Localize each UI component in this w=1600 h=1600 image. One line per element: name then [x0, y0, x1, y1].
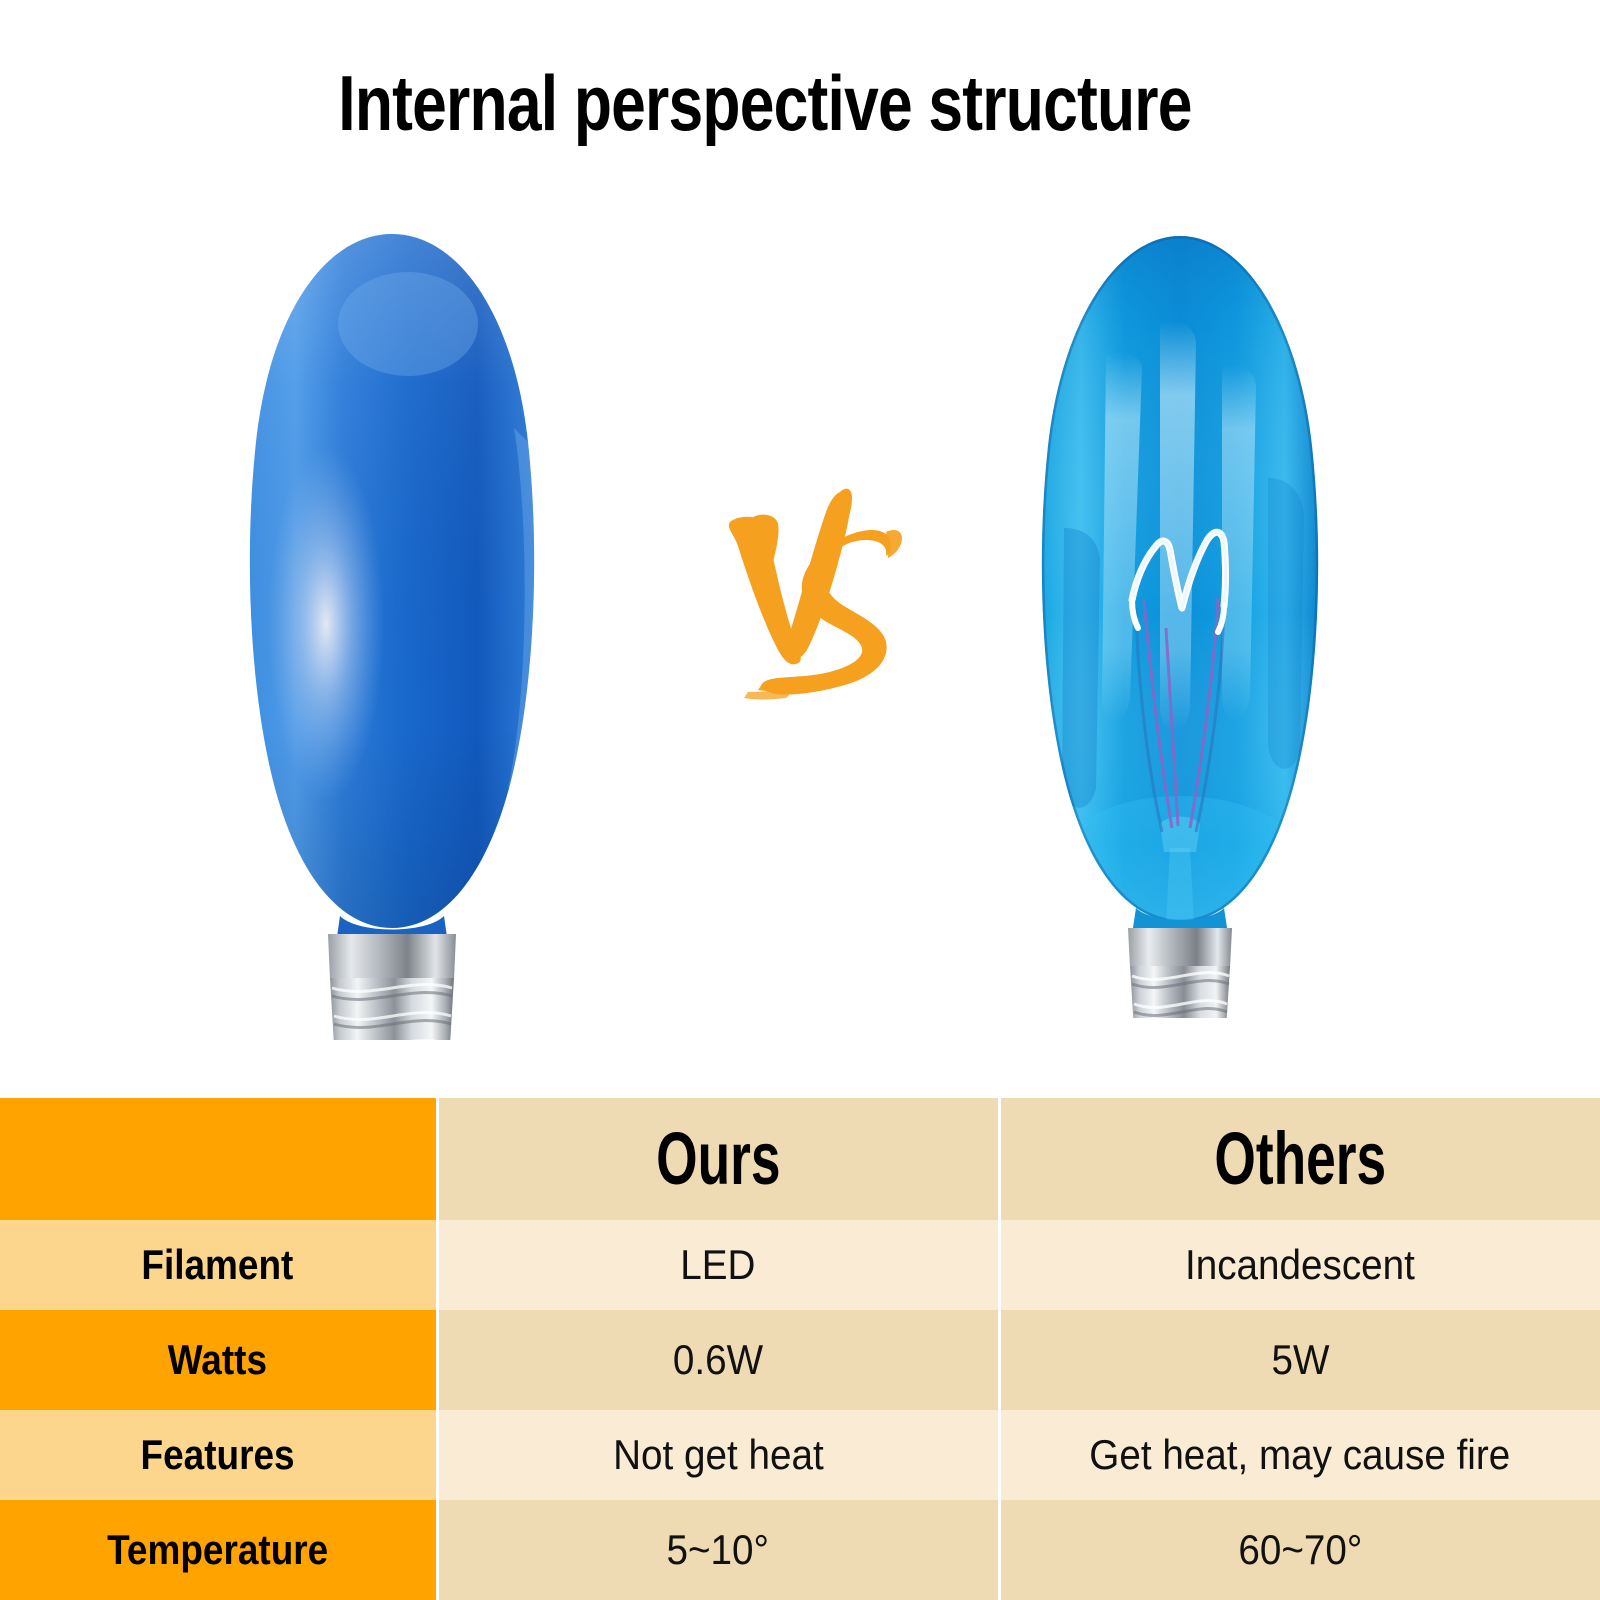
product-comparison-stage — [0, 0, 1600, 1078]
header-cell-blank — [0, 1098, 437, 1220]
row-value-text: 5W — [1271, 1336, 1329, 1384]
header-cell-others: Others — [999, 1098, 1600, 1220]
row-label-text: Watts — [168, 1336, 267, 1384]
row-label-watts: Watts — [0, 1310, 437, 1410]
led-bulb-image — [222, 228, 562, 1040]
comparison-table: Ours Others Filament LED Incandescent Wa… — [0, 1098, 1600, 1600]
vs-badge — [690, 470, 910, 720]
table-row: Filament LED Incandescent — [0, 1220, 1600, 1310]
row-value-text: 5~10° — [667, 1526, 769, 1574]
row-value-text: LED — [680, 1241, 755, 1289]
vs-brush-mark — [729, 489, 902, 700]
row-value-others-temperature: 60~70° — [999, 1500, 1600, 1600]
row-value-text: Get heat, may cause fire — [1090, 1431, 1511, 1479]
table-header-row: Ours Others — [0, 1098, 1600, 1220]
header-label-ours: Ours — [656, 1121, 780, 1197]
incandescent-bulb-envelope — [1010, 228, 1350, 940]
row-value-text: 0.6W — [673, 1336, 763, 1384]
row-value-others-watts: 5W — [999, 1310, 1600, 1410]
header-label-others: Others — [1214, 1121, 1386, 1197]
row-label-features: Features — [0, 1410, 437, 1500]
row-value-text: Incandescent — [1185, 1241, 1415, 1289]
led-bulb-envelope — [222, 228, 562, 940]
row-label-text: Features — [141, 1431, 295, 1479]
glass-highlight-center — [1160, 321, 1196, 732]
row-value-ours-features: Not get heat — [437, 1410, 999, 1500]
incandescent-bulb-screw-base — [1128, 928, 1232, 1018]
row-label-filament: Filament — [0, 1220, 437, 1310]
row-value-text: Not get heat — [613, 1431, 824, 1479]
row-value-text: 60~70° — [1238, 1526, 1362, 1574]
row-value-ours-temperature: 5~10° — [437, 1500, 999, 1600]
row-label-temperature: Temperature — [0, 1500, 437, 1600]
row-label-text: Filament — [142, 1241, 294, 1289]
row-value-ours-watts: 0.6W — [437, 1310, 999, 1410]
row-value-ours-filament: LED — [437, 1220, 999, 1310]
filament-stem — [1166, 848, 1194, 922]
incandescent-bulb-image — [1010, 228, 1350, 1018]
led-bulb-screw-base — [328, 934, 456, 1040]
row-value-others-filament: Incandescent — [999, 1220, 1600, 1310]
header-cell-ours: Ours — [437, 1098, 999, 1220]
row-value-others-features: Get heat, may cause fire — [999, 1410, 1600, 1500]
table-row: Features Not get heat Get heat, may caus… — [0, 1410, 1600, 1500]
table-row: Temperature 5~10° 60~70° — [0, 1500, 1600, 1600]
row-label-text: Temperature — [107, 1526, 328, 1574]
table-row: Watts 0.6W 5W — [0, 1310, 1600, 1410]
